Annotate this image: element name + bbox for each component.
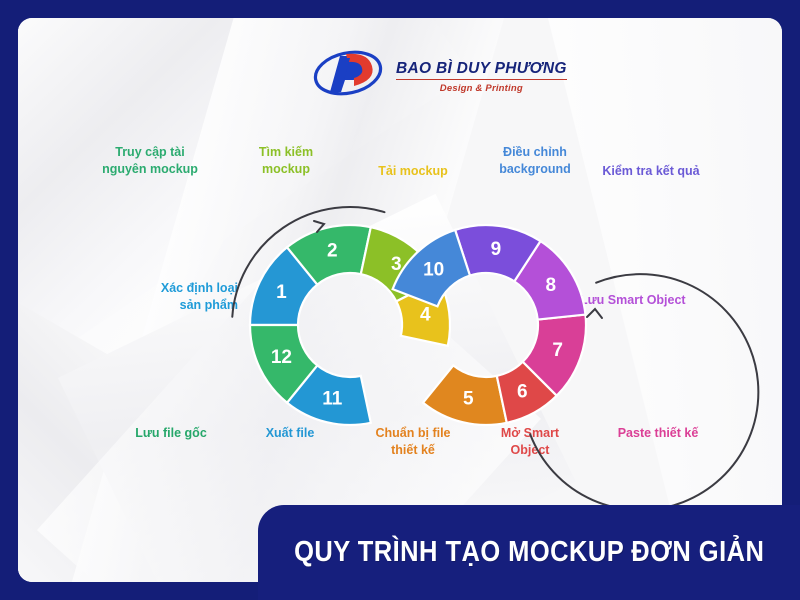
banner-title: QUY TRÌNH TẠO MOCKUP ĐƠN GIẢN (294, 536, 764, 569)
infographic-canvas: BAO BÌ DUY PHƯƠNG Design & Printing Xác … (0, 0, 800, 600)
segment-number-12: 12 (271, 347, 292, 368)
segment-number-11: 11 (322, 388, 343, 409)
segment-number-7: 7 (552, 340, 563, 361)
segment-number-10: 10 (423, 259, 444, 280)
process-donut-chart: 123411125678910 (18, 18, 782, 582)
segment-number-6: 6 (517, 381, 528, 402)
segment-number-8: 8 (546, 275, 557, 296)
flow-arrow-head-icon (587, 309, 602, 318)
segment-number-5: 5 (463, 388, 474, 409)
content-card: BAO BÌ DUY PHƯƠNG Design & Printing Xác … (18, 18, 782, 582)
segment-number-1: 1 (276, 282, 287, 303)
title-banner: QUY TRÌNH TẠO MOCKUP ĐƠN GIẢN (258, 505, 800, 600)
segment-number-4: 4 (420, 305, 431, 326)
segment-number-2: 2 (327, 241, 338, 262)
segment-number-9: 9 (491, 239, 502, 260)
